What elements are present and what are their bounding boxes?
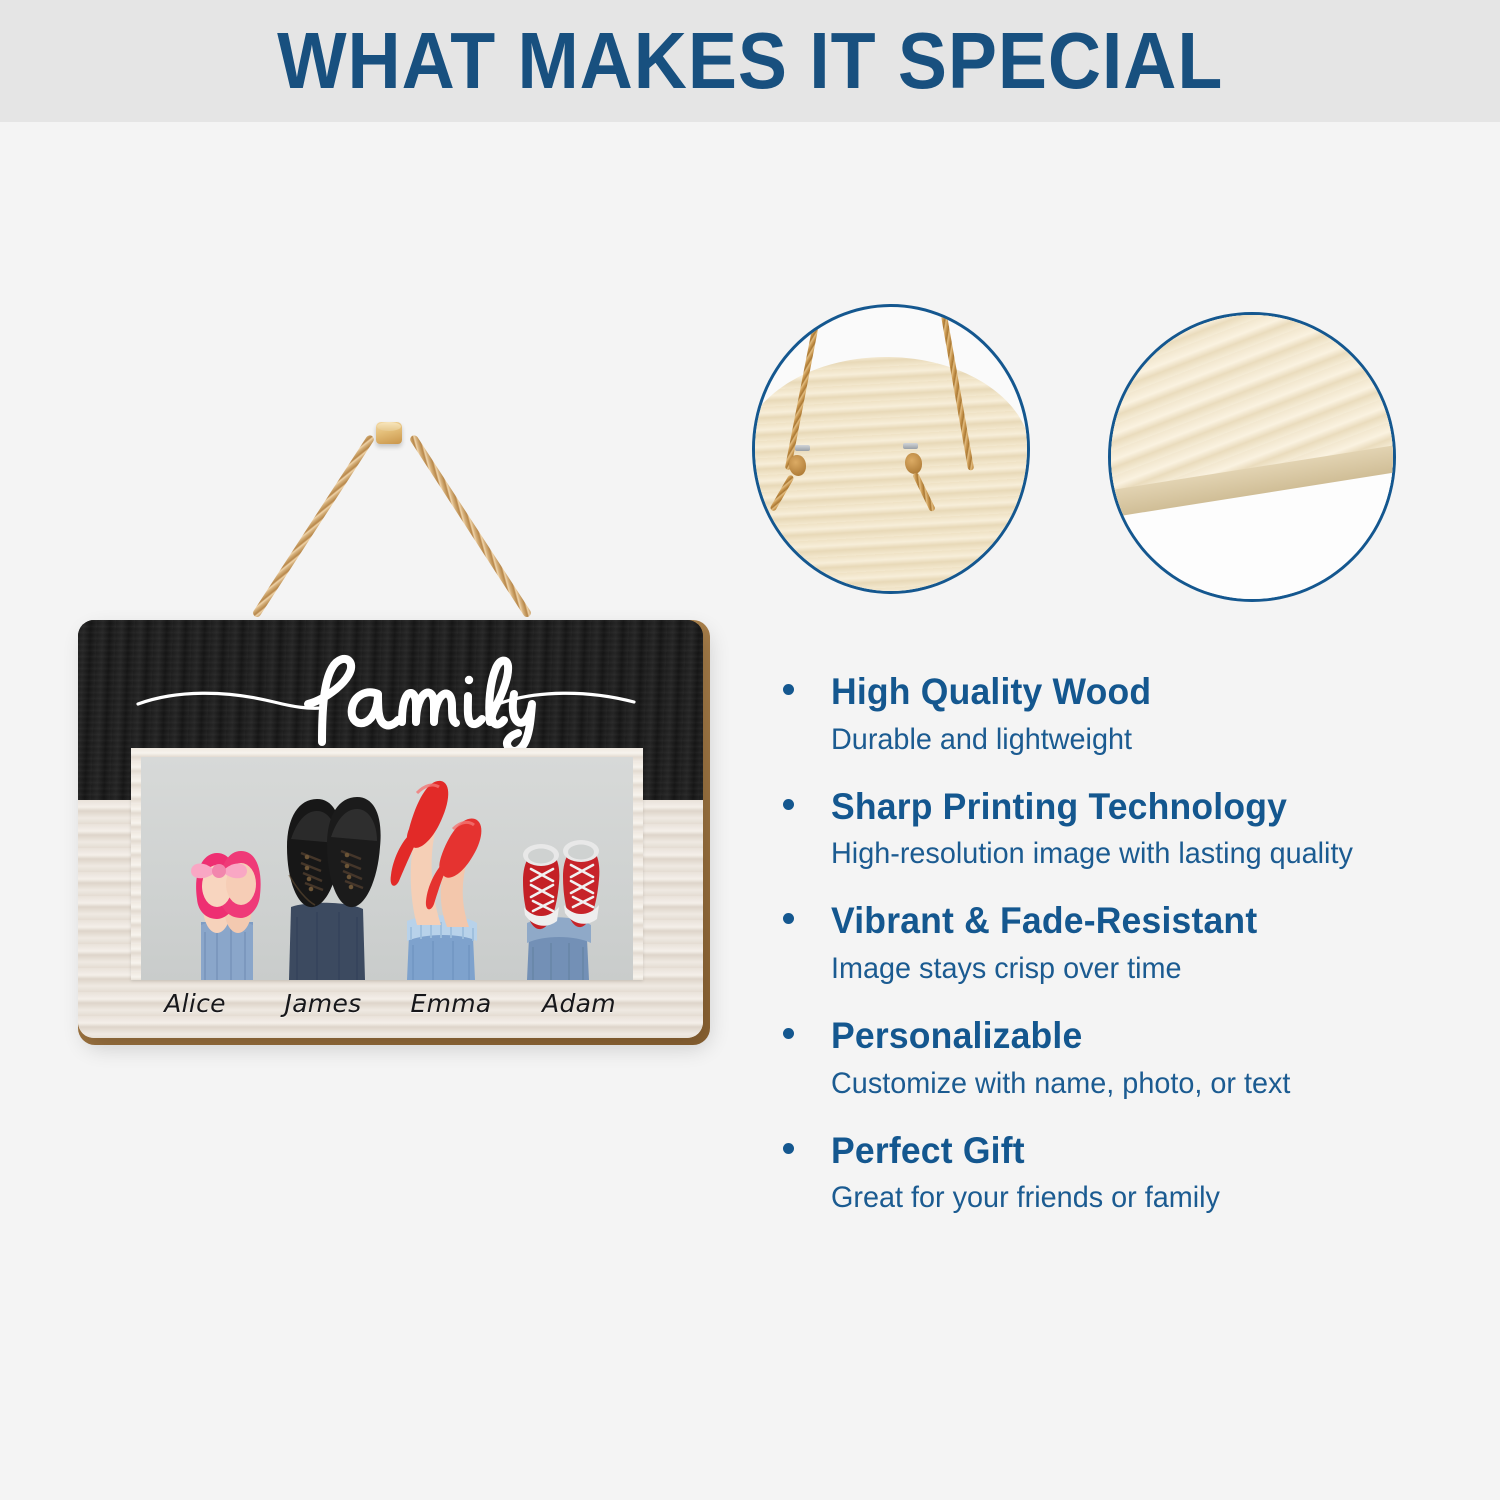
bullet-icon: [783, 1143, 794, 1154]
feature-desc: Great for your friends or family: [831, 1178, 1449, 1217]
wood-edge-detail-circle: [1108, 312, 1396, 602]
feature-title: High Quality Wood: [831, 670, 1449, 714]
detail-wood-surface: [752, 357, 1030, 594]
feature-desc: High-resolution image with lasting quali…: [831, 834, 1449, 873]
feature-desc: Customize with name, photo, or text: [831, 1064, 1449, 1103]
figure-name-alice: Alice: [131, 989, 259, 1018]
feature-item-personalizable: Personalizable Customize with name, phot…: [775, 1014, 1475, 1103]
bullet-icon: [783, 799, 794, 810]
rope-icon-left: [252, 434, 376, 619]
feature-desc: Image stays crisp over time: [831, 949, 1449, 988]
feature-item-vibrant-fade-resistant: Vibrant & Fade-Resistant Image stays cri…: [775, 899, 1475, 988]
rope-icon-right: [409, 434, 533, 619]
feature-list: High Quality Wood Durable and lightweigh…: [775, 670, 1475, 1217]
family-feet-illustration: [141, 757, 633, 980]
feature-item-high-quality-wood: High Quality Wood Durable and lightweigh…: [775, 670, 1475, 759]
feature-title: Perfect Gift: [831, 1129, 1449, 1173]
header-band: WHAT MAKES IT SPECIAL: [0, 0, 1500, 122]
figure-name-emma: Emma: [387, 989, 515, 1018]
figure-name-adam: Adam: [515, 989, 643, 1018]
feature-item-perfect-gift: Perfect Gift Great for your friends or f…: [775, 1129, 1475, 1218]
figure-james: [287, 797, 381, 980]
wood-sign-board: Alice James Emma Adam: [78, 620, 703, 1038]
bullet-icon: [783, 684, 794, 695]
feature-desc: Durable and lightweight: [831, 720, 1449, 759]
family-photo: [141, 757, 633, 980]
bullet-icon: [783, 913, 794, 924]
figure-alice: [191, 851, 261, 980]
figure-adam: [523, 840, 599, 980]
wall-peg-icon: [376, 422, 402, 444]
rope-hanger-detail-circle: [752, 304, 1030, 594]
name-row: Alice James Emma Adam: [131, 982, 643, 1024]
feature-title: Personalizable: [831, 1014, 1449, 1058]
page-title: WHAT MAKES IT SPECIAL: [277, 21, 1223, 101]
detail-knot-right: [905, 453, 922, 474]
content-area: Alice James Emma Adam High Quality Wood …: [0, 122, 1500, 1500]
detail-staple-left: [795, 445, 810, 451]
feature-title: Vibrant & Fade-Resistant: [831, 899, 1449, 943]
figure-emma: [391, 781, 482, 980]
photo-frame: [131, 748, 643, 980]
product-image: Alice James Emma Adam: [60, 412, 720, 1052]
detail-staple-right: [903, 443, 918, 449]
feature-title: Sharp Printing Technology: [831, 785, 1449, 829]
detail-knot-left: [789, 455, 806, 476]
feature-item-sharp-printing-technology: Sharp Printing Technology High-resolutio…: [775, 785, 1475, 874]
bullet-icon: [783, 1028, 794, 1039]
figure-name-james: James: [259, 989, 387, 1018]
